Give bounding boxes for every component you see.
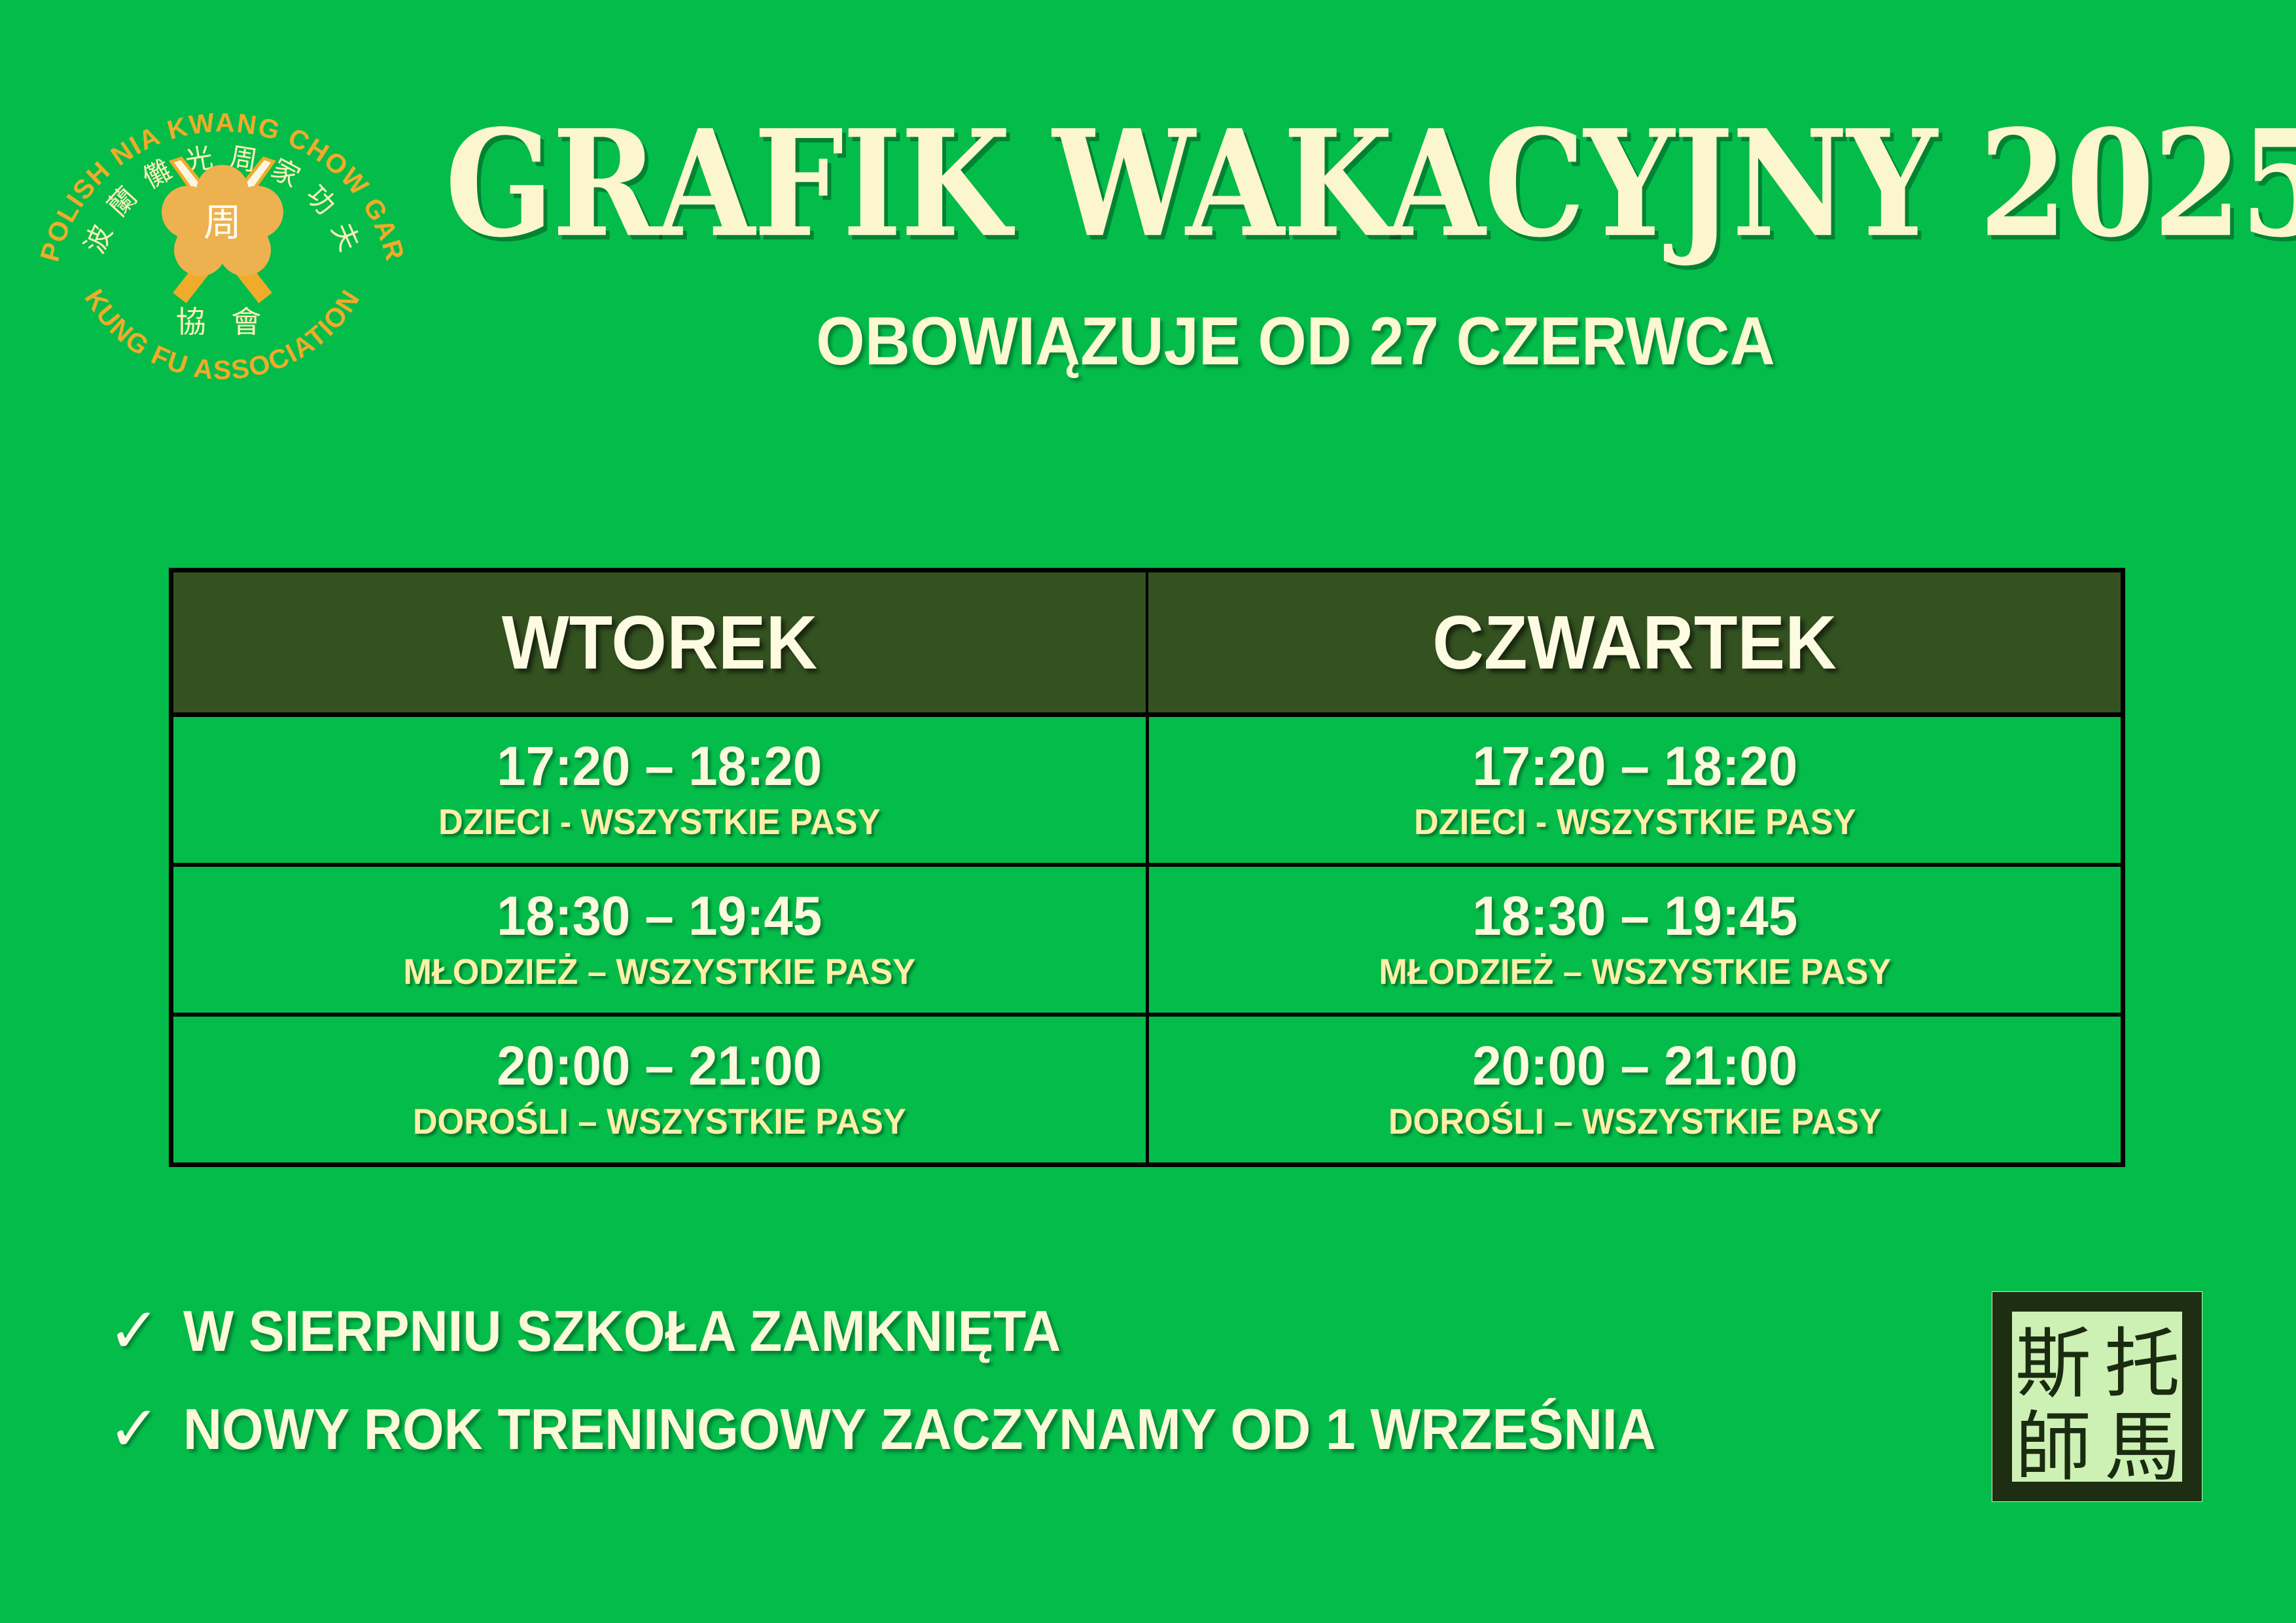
schedule-header-row: WTOREK CZWARTEK xyxy=(173,572,2121,715)
seal-character-bottom-left: 師 xyxy=(2015,1403,2091,1492)
checkmark-icon: ✓ xyxy=(85,1398,183,1461)
logo-chinese-lower: 協 會 xyxy=(176,304,270,340)
seal-character-bottom-right: 馬 xyxy=(2104,1403,2180,1492)
master-seal-stamp: 斯 托 師 馬 xyxy=(1983,1282,2212,1511)
slot-thursday-2: 18:30 – 19:45 MŁODZIEŻ – WSZYSTKIE PASY xyxy=(1147,865,2121,1015)
slot-tuesday-3: 20:00 – 21:00 DOROŚLI – WSZYSTKIE PASY xyxy=(173,1015,1147,1162)
seal-character-top-left: 斯 xyxy=(2015,1320,2091,1408)
note-text: NOWY ROK TRENINGOWY ZACZYNAMY OD 1 WRZEŚ… xyxy=(183,1401,1656,1458)
seal-character-top-right: 托 xyxy=(2104,1320,2180,1408)
slot-group: DOROŚLI – WSZYSTKIE PASY xyxy=(198,1103,1121,1141)
slot-group: MŁODZIEŻ – WSZYSTKIE PASY xyxy=(1173,953,2096,991)
slot-thursday-3: 20:00 – 21:00 DOROŚLI – WSZYSTKIE PASY xyxy=(1147,1015,2121,1162)
page-title: GRAFIK WAKACYJNY 2025 xyxy=(445,111,2146,258)
slot-group: DZIECI - WSZYSTKIE PASY xyxy=(198,803,1121,841)
checkmark-icon: ✓ xyxy=(85,1300,183,1363)
table-row: 17:20 – 18:20 DZIECI - WSZYSTKIE PASY 17… xyxy=(173,715,2121,865)
slot-group: DOROŚLI – WSZYSTKIE PASY xyxy=(1173,1103,2096,1141)
slot-time: 18:30 – 19:45 xyxy=(1173,888,2096,945)
slot-time: 17:20 – 18:20 xyxy=(198,739,1121,795)
slot-time: 20:00 – 21:00 xyxy=(1173,1038,2096,1094)
table-row: 18:30 – 19:45 MŁODZIEŻ – WSZYSTKIE PASY … xyxy=(173,865,2121,1015)
slot-tuesday-1: 17:20 – 18:20 DZIECI - WSZYSTKIE PASY xyxy=(173,715,1147,865)
page-subtitle: OBOWIĄZUJE OD 27 CZERWCA xyxy=(489,307,2102,375)
slot-time: 18:30 – 19:45 xyxy=(198,888,1121,945)
logo-plum-blossom-emblem: 周 xyxy=(162,165,283,276)
slot-thursday-1: 17:20 – 18:20 DZIECI - WSZYSTKIE PASY xyxy=(1147,715,2121,865)
slot-time: 20:00 – 21:00 xyxy=(198,1038,1121,1094)
notes-list: ✓ W SIERPNIU SZKOŁA ZAMKNIĘTA ✓ NOWY ROK… xyxy=(85,1282,1852,1478)
schedule-table-frame: WTOREK CZWARTEK 17:20 – 18:20 DZIECI - W… xyxy=(169,568,2125,1167)
table-row: 20:00 – 21:00 DOROŚLI – WSZYSTKIE PASY 2… xyxy=(173,1015,2121,1162)
column-header-thursday: CZWARTEK xyxy=(1147,572,2121,715)
list-item: ✓ W SIERPNIU SZKOŁA ZAMKNIĘTA xyxy=(85,1282,1852,1380)
association-logo: POLISH NIA KWANG CHOW GAR 波 蘭 儺 光 周 家 功 … xyxy=(20,13,425,406)
slot-time: 17:20 – 18:20 xyxy=(1173,739,2096,795)
column-header-thursday-label: CZWARTEK xyxy=(1178,604,2092,680)
column-header-tuesday-label: WTOREK xyxy=(203,604,1117,680)
slot-group: MŁODZIEŻ – WSZYSTKIE PASY xyxy=(198,953,1121,991)
column-header-tuesday: WTOREK xyxy=(173,572,1147,715)
logo-emblem-character: 周 xyxy=(203,200,241,245)
slot-tuesday-2: 18:30 – 19:45 MŁODZIEŻ – WSZYSTKIE PASY xyxy=(173,865,1147,1015)
note-text: W SIERPNIU SZKOŁA ZAMKNIĘTA xyxy=(183,1302,1061,1360)
list-item: ✓ NOWY ROK TRENINGOWY ZACZYNAMY OD 1 WRZ… xyxy=(85,1380,1852,1478)
slot-group: DZIECI - WSZYSTKIE PASY xyxy=(1173,803,2096,841)
schedule-table: WTOREK CZWARTEK 17:20 – 18:20 DZIECI - W… xyxy=(173,572,2121,1162)
